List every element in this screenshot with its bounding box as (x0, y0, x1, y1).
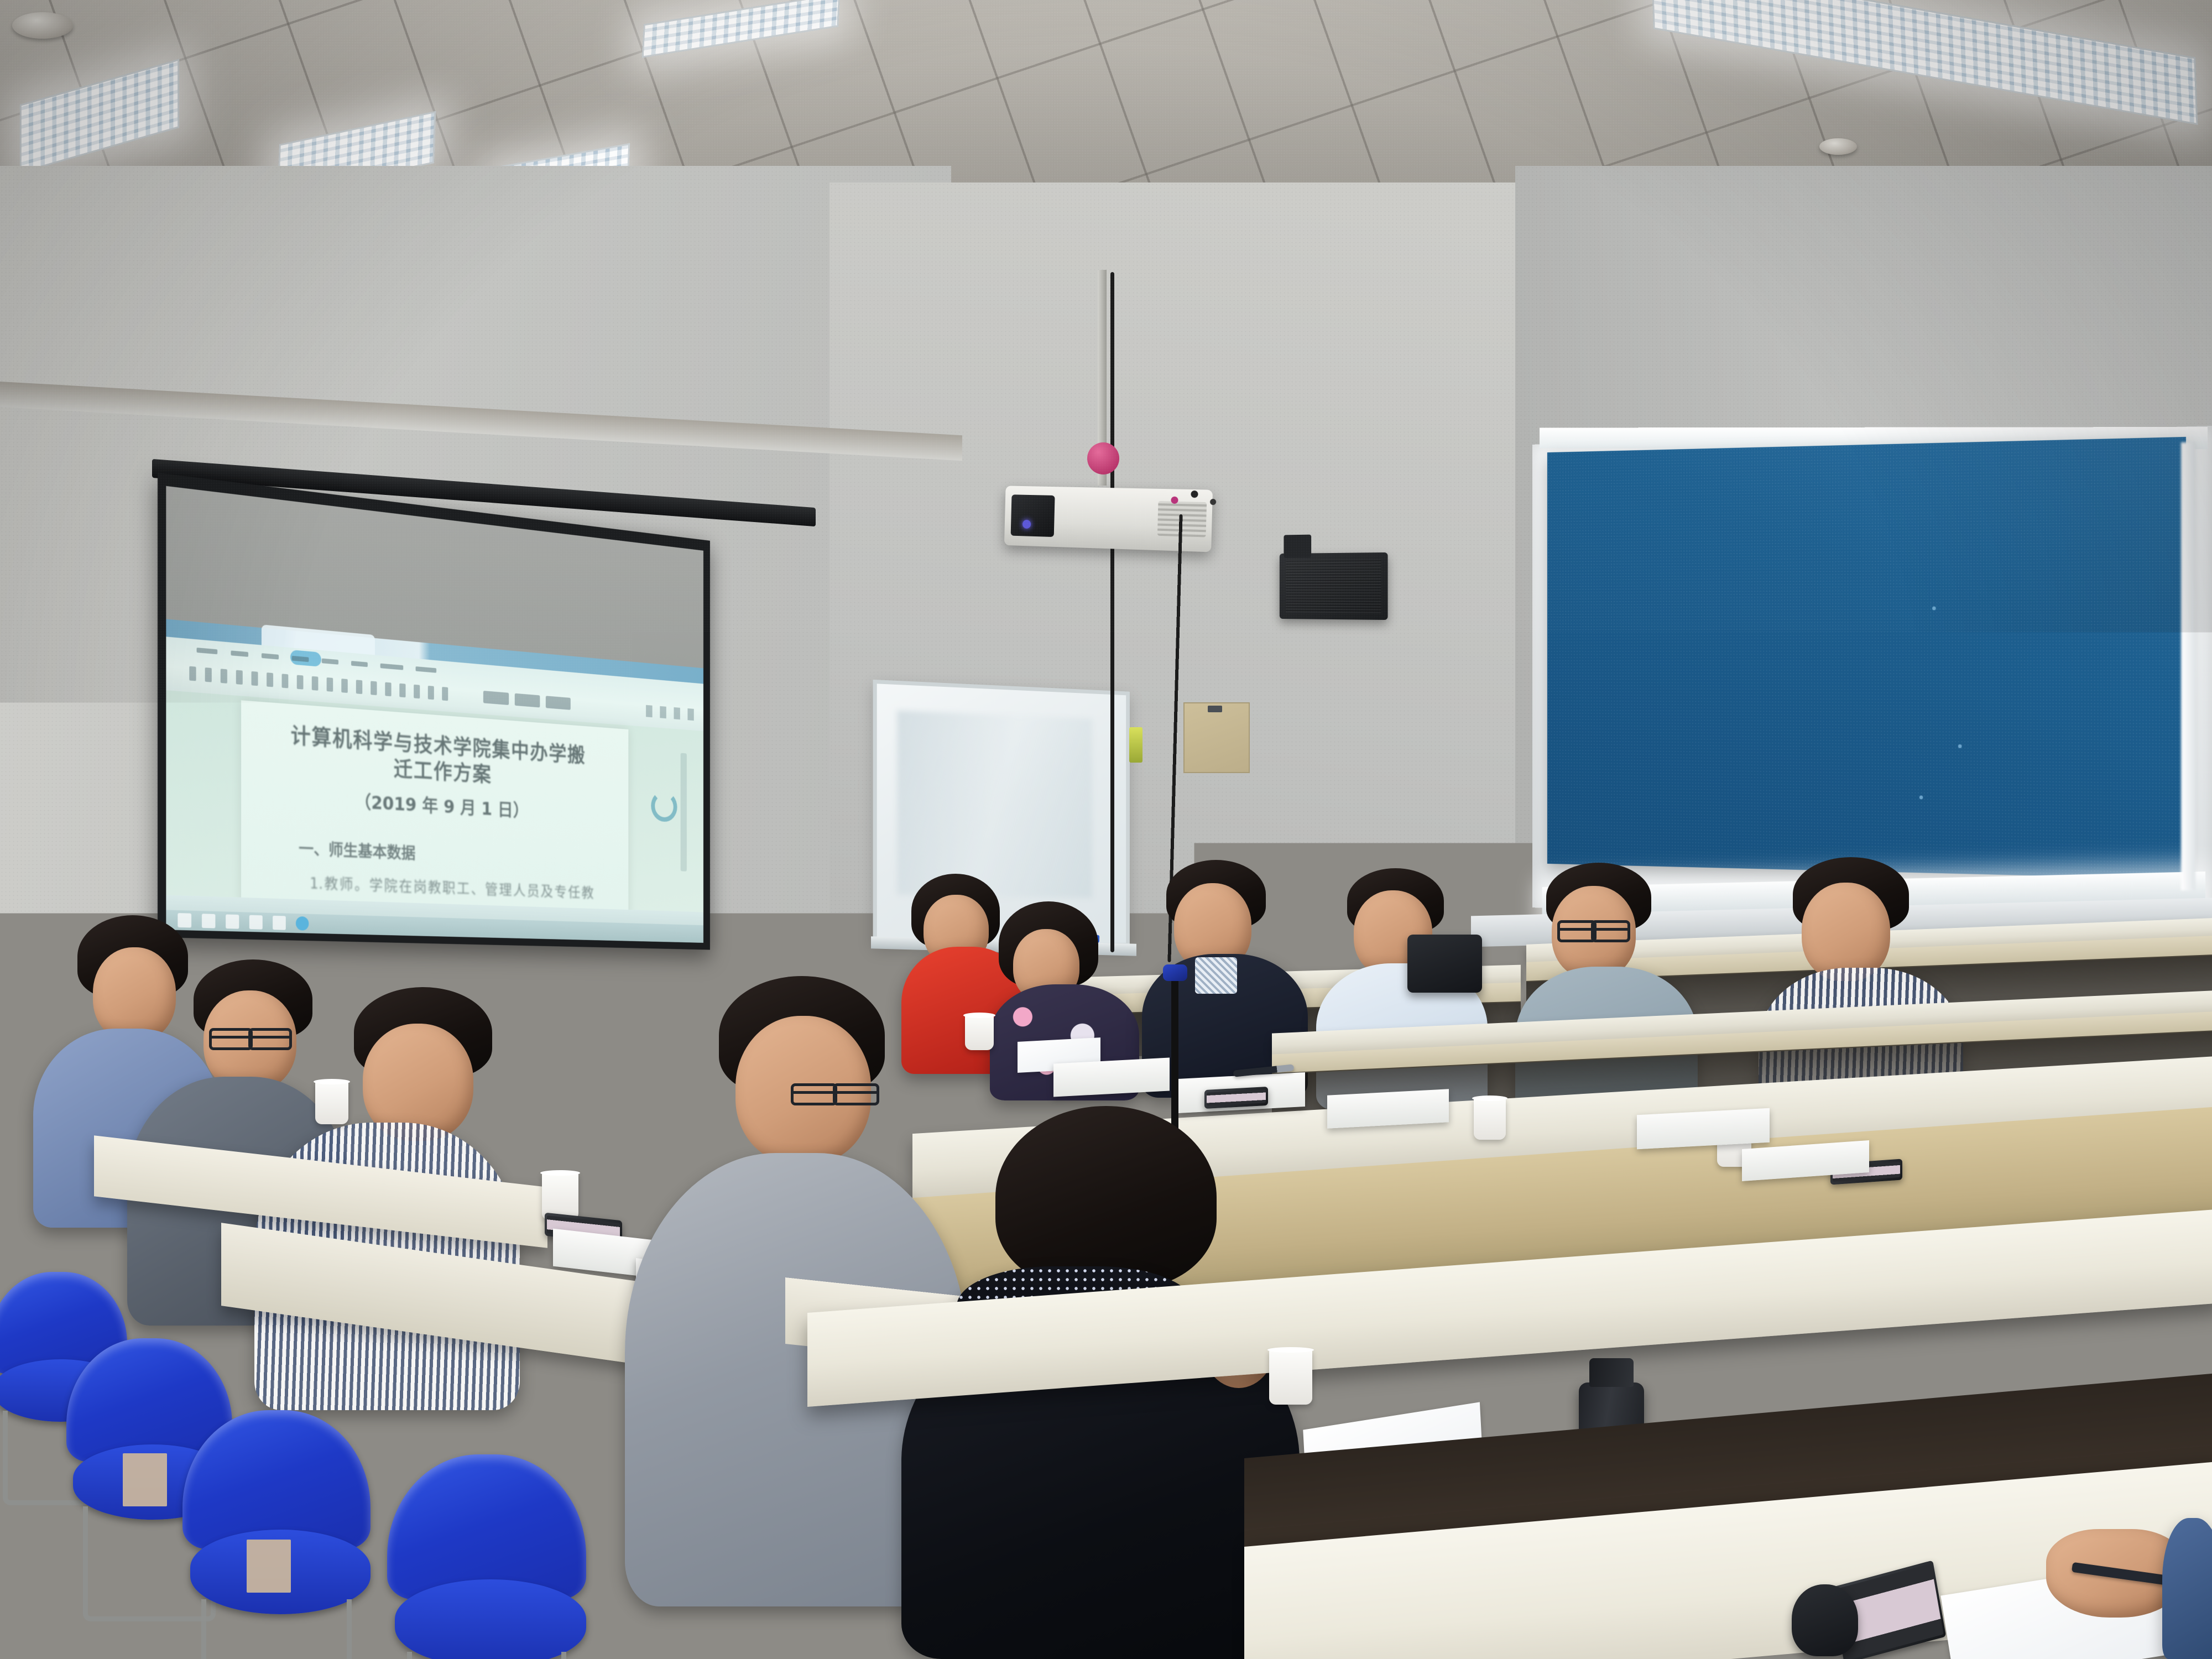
smartphone[interactable] (1204, 1087, 1268, 1109)
loading-spinner-icon (651, 791, 677, 823)
chair-label (123, 1453, 167, 1506)
wall-cable-connector (1129, 727, 1142, 763)
notebook[interactable] (1053, 1057, 1170, 1097)
smoke-detector-icon (1819, 138, 1857, 155)
word-document-page: 计算机科学与技术学院集中办学搬迁工作方案 （2019 年 9 月 1 日） 一、… (241, 700, 629, 917)
projector-cable (1110, 272, 1114, 952)
wall-access-panel (1183, 702, 1250, 773)
classroom-chair[interactable] (387, 1454, 586, 1659)
photo-scene: 计算机科学与技术学院集中办学搬迁工作方案 （2019 年 9 月 1 日） 一、… (0, 0, 2212, 1659)
paper-cup[interactable] (315, 1081, 348, 1124)
document-section-heading: 一、师生基本数据 (299, 835, 593, 870)
projector-lens-icon (1011, 494, 1055, 537)
notebook[interactable] (1637, 1108, 1770, 1150)
eyeglasses (791, 1091, 879, 1094)
window-blind[interactable] (1547, 437, 2186, 879)
paper-cup[interactable] (965, 1015, 994, 1050)
notebook[interactable] (1327, 1089, 1449, 1129)
wall-speaker (1280, 552, 1388, 620)
paper-cup[interactable] (1474, 1098, 1506, 1140)
projector-wiring (1161, 482, 1228, 512)
document-scrollbar[interactable] (681, 753, 687, 872)
computer-mouse[interactable] (1792, 1584, 1858, 1656)
classroom-chair[interactable] (182, 1410, 371, 1659)
eyeglasses (1557, 928, 1630, 931)
classroom-chair[interactable] (2068, 1095, 2212, 1239)
window-glow-right (2181, 442, 2195, 890)
smoke-detector-icon (12, 12, 73, 39)
document-title: 计算机科学与技术学院集中办学搬迁工作方案 (281, 722, 593, 794)
laptop-bag[interactable] (1407, 935, 1482, 993)
projector-mount-knob (1087, 442, 1119, 474)
chair-label (247, 1540, 291, 1593)
paper-cup[interactable] (1269, 1349, 1312, 1405)
collar (1195, 957, 1237, 994)
projection-screen: 计算机科学与技术学院集中办学搬迁工作方案 （2019 年 9 月 1 日） 一、… (158, 473, 710, 950)
writing-hand (2046, 1529, 2212, 1659)
